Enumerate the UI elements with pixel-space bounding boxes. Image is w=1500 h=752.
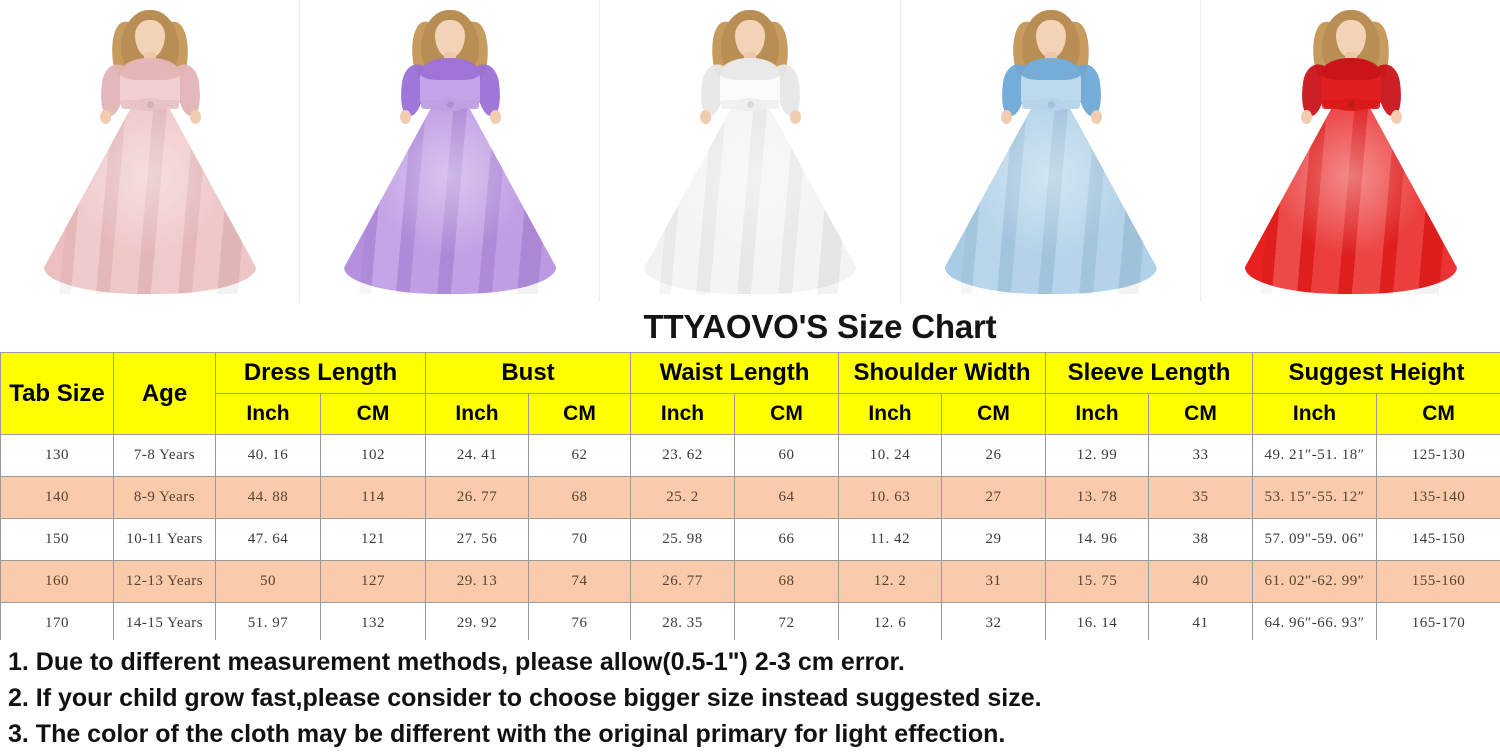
- cell-measurement: 60: [735, 435, 839, 477]
- cell-measurement: 29. 13: [426, 561, 529, 603]
- col-group-header-bust: Bust: [426, 353, 631, 394]
- cell-measurement: 68: [735, 561, 839, 603]
- skirt-highlight: [945, 104, 1157, 294]
- hand-left: [100, 110, 111, 124]
- dress-illustration: [300, 0, 600, 302]
- hand-left: [700, 110, 711, 124]
- bow-icon: [734, 98, 766, 111]
- skirt-highlight: [344, 104, 556, 294]
- cell-measurement: 72: [735, 603, 839, 645]
- cell-measurement: 25. 2: [631, 477, 735, 519]
- cell-measurement: 114: [321, 477, 426, 519]
- cell-measurement: 64: [735, 477, 839, 519]
- col-group-header-age: Age: [114, 353, 216, 435]
- cell-measurement: 10. 24: [839, 435, 942, 477]
- cell-measurement: 64. 96″-66. 93″: [1253, 603, 1377, 645]
- hand-right: [190, 110, 201, 124]
- cell-measurement: 12. 2: [839, 561, 942, 603]
- cell-measurement: 74: [529, 561, 631, 603]
- lace-yoke: [120, 58, 180, 80]
- cell-measurement: 24. 41: [426, 435, 529, 477]
- cell-measurement: 27: [942, 477, 1046, 519]
- table-row: 17014-15 Years51. 9713229. 927628. 35721…: [1, 603, 1500, 645]
- cell-measurement: 165-170: [1377, 603, 1500, 645]
- cell-measurement: 12. 6: [839, 603, 942, 645]
- cell-measurement: 57. 09″-59. 06″: [1253, 519, 1377, 561]
- footnotes: 1. Due to different measurement methods,…: [0, 640, 1500, 750]
- dress-photo-white: [600, 0, 900, 302]
- col-unit-header-inch-6: Inch: [839, 394, 942, 435]
- cell-measurement: 15. 75: [1046, 561, 1149, 603]
- bow-icon: [1035, 98, 1067, 111]
- cell-measurement: 31: [942, 561, 1046, 603]
- cell-measurement: 40: [1149, 561, 1253, 603]
- cell-measurement: 127: [321, 561, 426, 603]
- table-row: 1307-8 Years40. 1610224. 416223. 626010.…: [1, 435, 1500, 477]
- skirt-highlight: [1245, 104, 1457, 294]
- cell-age: 12-13 Years: [114, 561, 216, 603]
- cell-measurement: 14. 96: [1046, 519, 1149, 561]
- cell-measurement: 12. 99: [1046, 435, 1149, 477]
- product-photo-band: [0, 0, 1500, 302]
- dress-photo-purple: [300, 0, 600, 302]
- bow-icon: [134, 98, 166, 111]
- col-unit-header-cm-11: CM: [1377, 394, 1500, 435]
- cell-tab-size: 140: [1, 477, 114, 519]
- hand-right: [1391, 110, 1402, 124]
- hand-right: [1091, 110, 1102, 124]
- size-chart-table: Tab SizeAgeDress LengthBustWaist LengthS…: [0, 352, 1500, 645]
- col-unit-header-inch-2: Inch: [426, 394, 529, 435]
- cell-measurement: 125-130: [1377, 435, 1500, 477]
- cell-measurement: 13. 78: [1046, 477, 1149, 519]
- cell-measurement: 44. 88: [216, 477, 321, 519]
- cell-measurement: 23. 62: [631, 435, 735, 477]
- col-unit-header-cm-3: CM: [529, 394, 631, 435]
- cell-measurement: 35: [1149, 477, 1253, 519]
- cell-measurement: 29: [942, 519, 1046, 561]
- cell-measurement: 51. 97: [216, 603, 321, 645]
- dress-illustration: [901, 0, 1201, 302]
- cell-tab-size: 160: [1, 561, 114, 603]
- cell-tab-size: 130: [1, 435, 114, 477]
- dress-illustration: [0, 0, 300, 302]
- col-group-header-dress-length: Dress Length: [216, 353, 426, 394]
- cell-measurement: 38: [1149, 519, 1253, 561]
- table-header-group-row: Tab SizeAgeDress LengthBustWaist LengthS…: [1, 353, 1500, 394]
- col-group-header-tab-size: Tab Size: [1, 353, 114, 435]
- cell-measurement: 102: [321, 435, 426, 477]
- cell-measurement: 132: [321, 603, 426, 645]
- chart-title-row: TTYAOVO'S Size Chart: [0, 302, 1500, 353]
- cell-measurement: 62: [529, 435, 631, 477]
- cell-measurement: 40. 16: [216, 435, 321, 477]
- size-chart-page: TTYAOVO'S Size Chart Tab SizeAgeDress Le…: [0, 0, 1500, 750]
- bow-icon: [434, 98, 466, 111]
- cell-measurement: 53. 15″-55. 12″: [1253, 477, 1377, 519]
- col-unit-header-inch-10: Inch: [1253, 394, 1377, 435]
- cell-tab-size: 150: [1, 519, 114, 561]
- cell-measurement: 32: [942, 603, 1046, 645]
- cell-tab-size: 170: [1, 603, 114, 645]
- cell-measurement: 70: [529, 519, 631, 561]
- table-header-unit-row: InchCMInchCMInchCMInchCMInchCMInchCM: [1, 394, 1500, 435]
- dress-illustration: [600, 0, 900, 302]
- table-body: 1307-8 Years40. 1610224. 416223. 626010.…: [1, 435, 1500, 645]
- table-row: 15010-11 Years47. 6412127. 567025. 98661…: [1, 519, 1500, 561]
- cell-measurement: 26: [942, 435, 1046, 477]
- footnote-1: 1. Due to different measurement methods,…: [8, 644, 1500, 680]
- cell-age: 8-9 Years: [114, 477, 216, 519]
- cell-age: 10-11 Years: [114, 519, 216, 561]
- col-unit-header-inch-8: Inch: [1046, 394, 1149, 435]
- hand-right: [790, 110, 801, 124]
- cell-measurement: 50: [216, 561, 321, 603]
- cell-measurement: 76: [529, 603, 631, 645]
- col-unit-header-inch-4: Inch: [631, 394, 735, 435]
- col-unit-header-cm-9: CM: [1149, 394, 1253, 435]
- cell-measurement: 66: [735, 519, 839, 561]
- table-row: 1408-9 Years44. 8811426. 776825. 26410. …: [1, 477, 1500, 519]
- cell-measurement: 33: [1149, 435, 1253, 477]
- cell-measurement: 47. 64: [216, 519, 321, 561]
- cell-measurement: 27. 56: [426, 519, 529, 561]
- page-title: TTYAOVO'S Size Chart: [504, 308, 997, 346]
- dress-photo-blue: [901, 0, 1201, 302]
- hand-left: [1001, 110, 1012, 124]
- cell-measurement: 11. 42: [839, 519, 942, 561]
- dress-photo-pink: [0, 0, 300, 302]
- dress-photo-red: [1201, 0, 1500, 302]
- col-group-header-shoulder-width: Shoulder Width: [839, 353, 1046, 394]
- cell-measurement: 26. 77: [426, 477, 529, 519]
- cell-measurement: 41: [1149, 603, 1253, 645]
- skirt-highlight: [44, 104, 256, 294]
- footnote-3: 3. The color of the cloth may be differe…: [8, 716, 1500, 752]
- cell-measurement: 121: [321, 519, 426, 561]
- col-group-header-suggest-height: Suggest Height: [1253, 353, 1500, 394]
- cell-age: 14-15 Years: [114, 603, 216, 645]
- cell-measurement: 29. 92: [426, 603, 529, 645]
- col-group-header-sleeve-length: Sleeve Length: [1046, 353, 1253, 394]
- cell-measurement: 16. 14: [1046, 603, 1149, 645]
- footnote-2: 2. If your child grow fast,please consid…: [8, 680, 1500, 716]
- hand-left: [400, 110, 411, 124]
- table-head: Tab SizeAgeDress LengthBustWaist LengthS…: [1, 353, 1500, 435]
- cell-measurement: 26. 77: [631, 561, 735, 603]
- col-unit-header-cm-7: CM: [942, 394, 1046, 435]
- cell-measurement: 28. 35: [631, 603, 735, 645]
- bow-icon: [1335, 98, 1367, 111]
- cell-measurement: 49. 21″-51. 18″: [1253, 435, 1377, 477]
- cell-measurement: 135-140: [1377, 477, 1500, 519]
- lace-yoke: [1021, 58, 1081, 80]
- cell-measurement: 68: [529, 477, 631, 519]
- skirt-highlight: [644, 104, 856, 294]
- hand-right: [490, 110, 501, 124]
- dress-illustration: [1201, 0, 1500, 302]
- col-unit-header-cm-5: CM: [735, 394, 839, 435]
- cell-measurement: 145-150: [1377, 519, 1500, 561]
- col-group-header-waist-length: Waist Length: [631, 353, 839, 394]
- cell-age: 7-8 Years: [114, 435, 216, 477]
- cell-measurement: 61. 02″-62. 99″: [1253, 561, 1377, 603]
- cell-measurement: 10. 63: [839, 477, 942, 519]
- hand-left: [1301, 110, 1312, 124]
- cell-measurement: 155-160: [1377, 561, 1500, 603]
- lace-yoke: [1321, 58, 1381, 80]
- table-row: 16012-13 Years5012729. 137426. 776812. 2…: [1, 561, 1500, 603]
- col-unit-header-inch-0: Inch: [216, 394, 321, 435]
- col-unit-header-cm-1: CM: [321, 394, 426, 435]
- cell-measurement: 25. 98: [631, 519, 735, 561]
